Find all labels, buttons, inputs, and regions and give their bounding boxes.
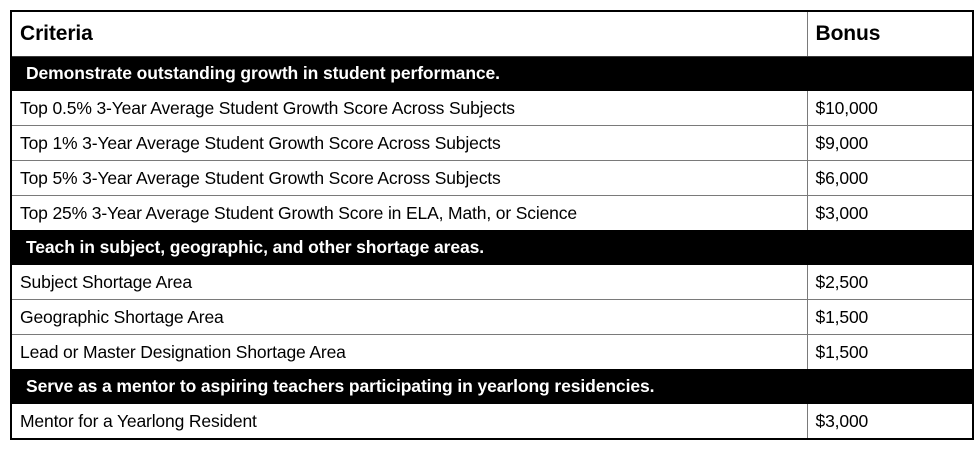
table-body: Demonstrate outstanding growth in studen… xyxy=(11,57,973,440)
table-row: Geographic Shortage Area$1,500 xyxy=(11,300,973,335)
cell-bonus: $3,000 xyxy=(807,404,973,440)
table-row: Mentor for a Yearlong Resident$3,000 xyxy=(11,404,973,440)
cell-criteria: Top 1% 3-Year Average Student Growth Sco… xyxy=(11,126,807,161)
cell-bonus: $3,000 xyxy=(807,196,973,231)
section-header-label: Teach in subject, geographic, and other … xyxy=(11,231,973,265)
cell-bonus: $9,000 xyxy=(807,126,973,161)
table-row: Lead or Master Designation Shortage Area… xyxy=(11,335,973,370)
table-row: Top 25% 3-Year Average Student Growth Sc… xyxy=(11,196,973,231)
cell-criteria: Subject Shortage Area xyxy=(11,265,807,300)
table-header: Criteria Bonus xyxy=(11,11,973,57)
cell-criteria: Geographic Shortage Area xyxy=(11,300,807,335)
section-header-row: Demonstrate outstanding growth in studen… xyxy=(11,57,973,91)
cell-criteria: Top 5% 3-Year Average Student Growth Sco… xyxy=(11,161,807,196)
table-header-row: Criteria Bonus xyxy=(11,11,973,57)
column-header-bonus: Bonus xyxy=(807,11,973,57)
table-row: Top 0.5% 3-Year Average Student Growth S… xyxy=(11,91,973,126)
cell-criteria: Mentor for a Yearlong Resident xyxy=(11,404,807,440)
section-header-row: Teach in subject, geographic, and other … xyxy=(11,231,973,265)
table-row: Subject Shortage Area$2,500 xyxy=(11,265,973,300)
section-header-label: Serve as a mentor to aspiring teachers p… xyxy=(11,370,973,404)
cell-bonus: $6,000 xyxy=(807,161,973,196)
section-header-label: Demonstrate outstanding growth in studen… xyxy=(11,57,973,91)
table-row: Top 1% 3-Year Average Student Growth Sco… xyxy=(11,126,973,161)
cell-bonus: $1,500 xyxy=(807,300,973,335)
table-row: Top 5% 3-Year Average Student Growth Sco… xyxy=(11,161,973,196)
cell-criteria: Lead or Master Designation Shortage Area xyxy=(11,335,807,370)
column-header-criteria: Criteria xyxy=(11,11,807,57)
cell-criteria: Top 0.5% 3-Year Average Student Growth S… xyxy=(11,91,807,126)
section-header-row: Serve as a mentor to aspiring teachers p… xyxy=(11,370,973,404)
cell-bonus: $2,500 xyxy=(807,265,973,300)
page-canvas: Criteria Bonus Demonstrate outstanding g… xyxy=(0,0,980,470)
cell-bonus: $1,500 xyxy=(807,335,973,370)
teacher-bonus-table: Criteria Bonus Demonstrate outstanding g… xyxy=(10,10,974,440)
cell-criteria: Top 25% 3-Year Average Student Growth Sc… xyxy=(11,196,807,231)
cell-bonus: $10,000 xyxy=(807,91,973,126)
